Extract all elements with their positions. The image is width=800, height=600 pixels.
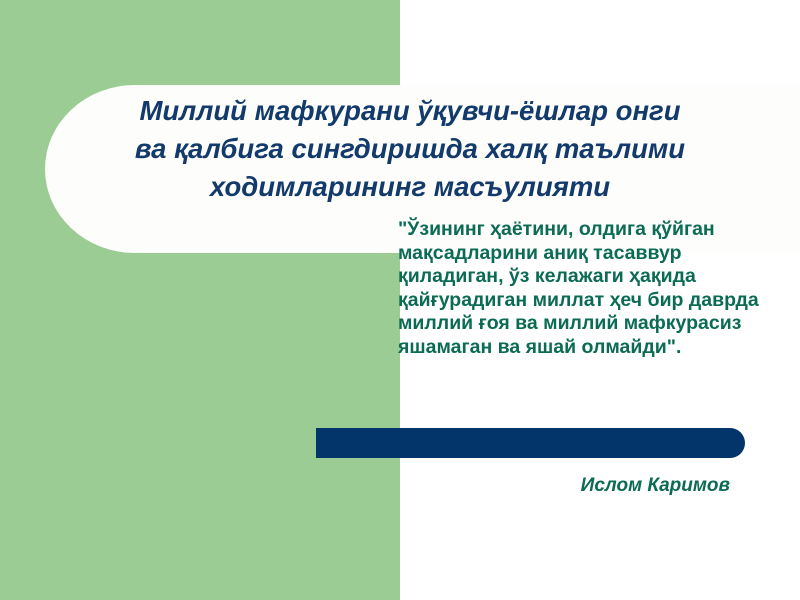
quote-text: "Ўзининг ҳаётини, олдига қўйган мақсадла… [398, 218, 788, 359]
navy-accent-bar [316, 428, 745, 458]
slide-canvas: Миллий мафкурани ўқувчи-ёшлар онги ва қа… [0, 0, 800, 600]
slide-title: Миллий мафкурани ўқувчи-ёшлар онги ва қа… [60, 92, 760, 206]
quote-attribution: Ислом Каримов [420, 474, 730, 498]
